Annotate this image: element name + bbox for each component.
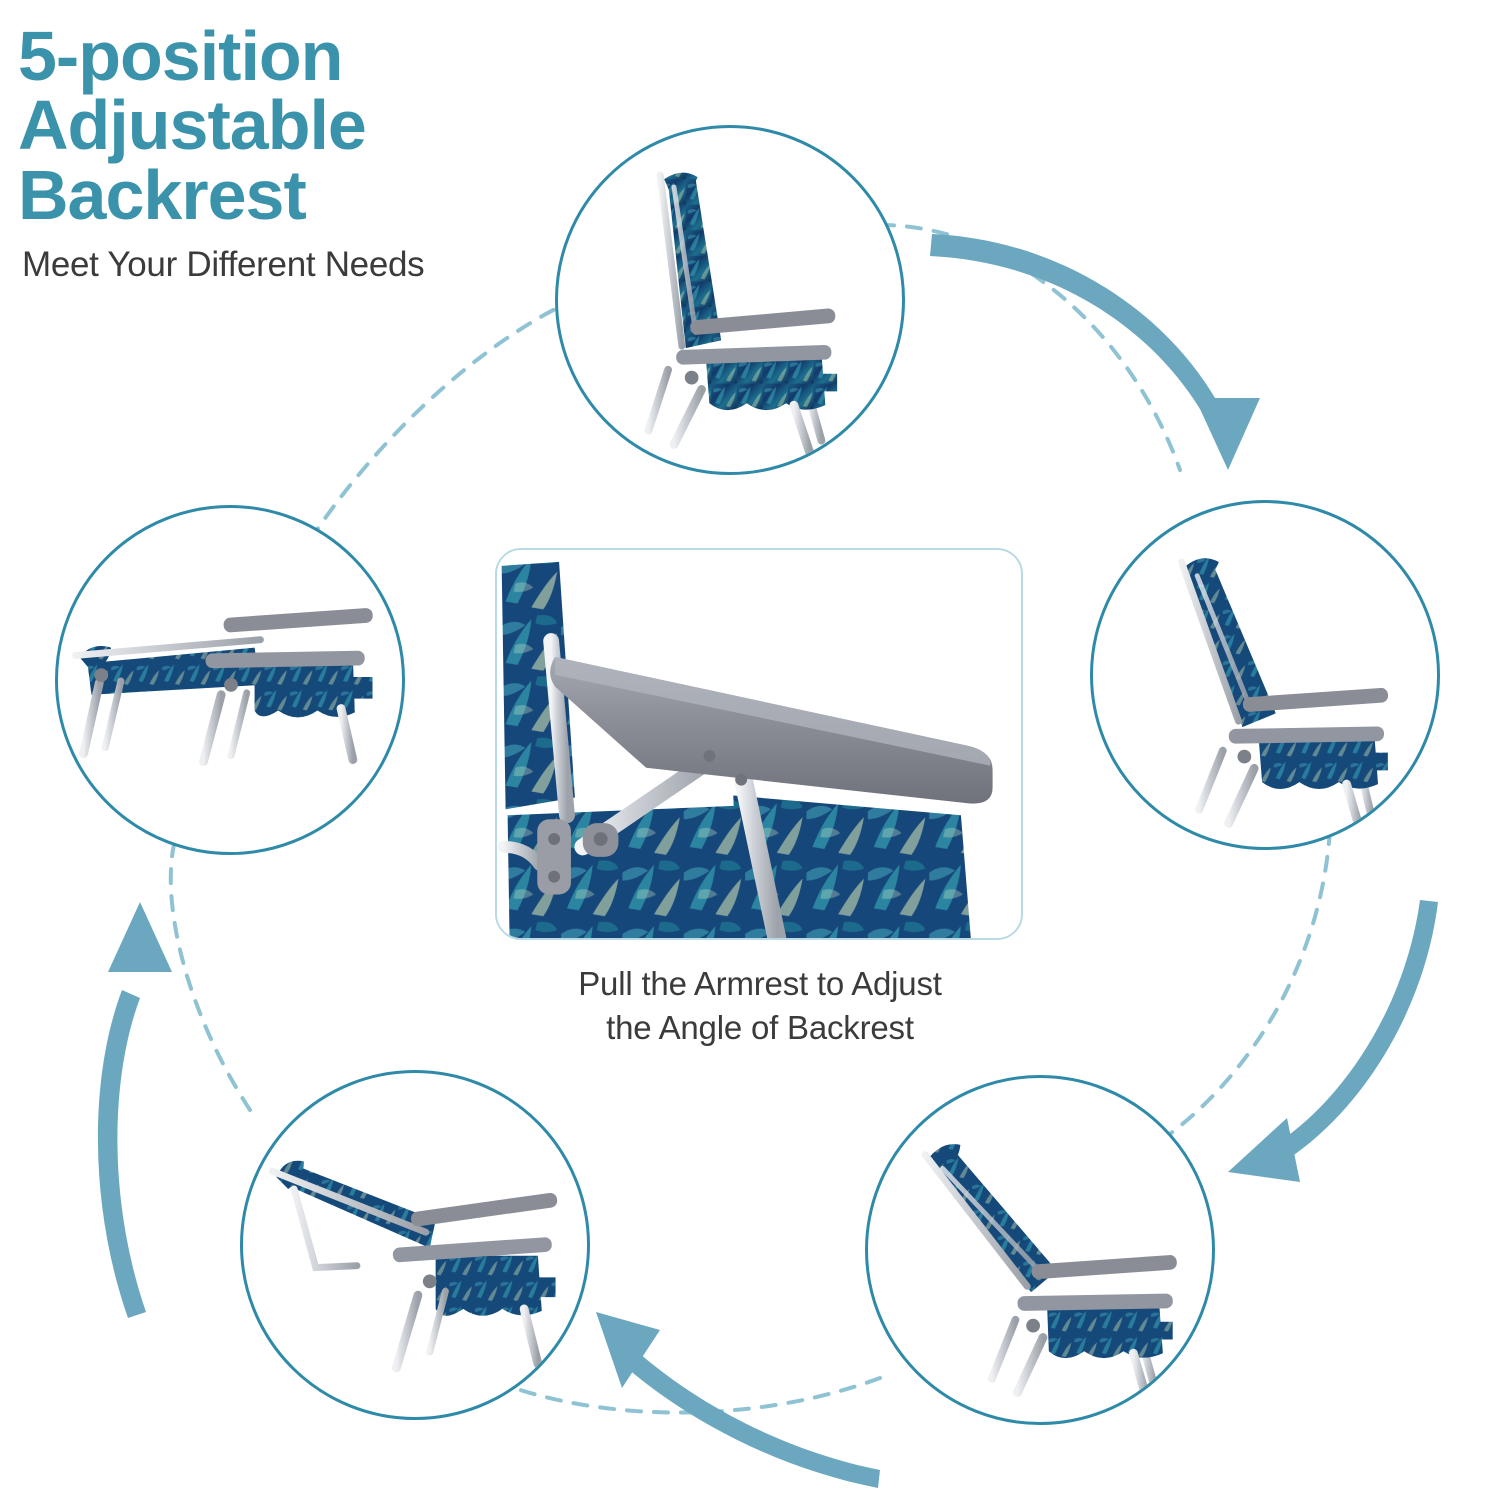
page-title: 5-position Adjustable Backrest bbox=[18, 22, 578, 230]
armrest-closeup-panel[interactable] bbox=[495, 548, 1023, 940]
chair-illustration-2 bbox=[1093, 503, 1437, 847]
arrow-2-to-3 bbox=[1228, 900, 1438, 1182]
center-caption: Pull the Armrest to Adjust the Angle of … bbox=[480, 962, 1040, 1049]
page-subtitle: Meet Your Different Needs bbox=[22, 246, 578, 285]
position-circle-5[interactable] bbox=[55, 505, 405, 855]
chair-illustration-4 bbox=[243, 1073, 587, 1417]
arrow-1-to-2 bbox=[930, 234, 1260, 470]
chair-illustration-1 bbox=[558, 128, 902, 472]
heading-block: 5-position Adjustable Backrest Meet Your… bbox=[18, 22, 578, 284]
chair-illustration-3 bbox=[868, 1078, 1212, 1422]
chair-illustration-5 bbox=[58, 508, 402, 852]
arrow-3-to-4 bbox=[596, 1312, 880, 1488]
dash-5-to-1 bbox=[310, 295, 585, 540]
position-circle-1[interactable] bbox=[555, 125, 905, 475]
dash-4-to-5 bbox=[171, 840, 250, 1110]
dash-1-to-2 bbox=[880, 225, 1180, 470]
dash-3-to-4 bbox=[470, 1370, 880, 1413]
infographic-canvas: 5-position Adjustable Backrest Meet Your… bbox=[0, 0, 1500, 1500]
position-circle-2[interactable] bbox=[1090, 500, 1440, 850]
arrow-4-to-5 bbox=[98, 902, 172, 1318]
position-circle-4[interactable] bbox=[240, 1070, 590, 1420]
position-circle-3[interactable] bbox=[865, 1075, 1215, 1425]
armrest-closeup-illustration bbox=[497, 550, 1021, 938]
